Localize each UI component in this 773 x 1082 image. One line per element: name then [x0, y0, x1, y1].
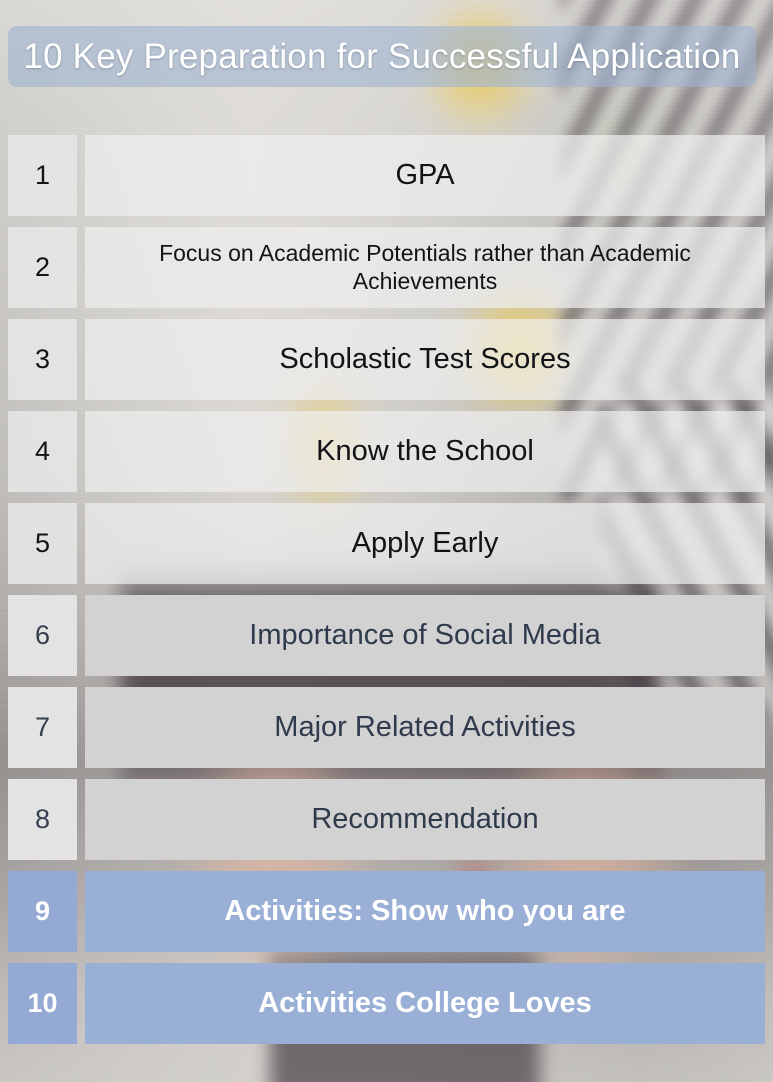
- preparation-list: 1GPA2Focus on Academic Potentials rather…: [0, 135, 773, 1055]
- list-item[interactable]: 2Focus on Academic Potentials rather tha…: [0, 227, 773, 308]
- list-item-number: 5: [8, 503, 77, 584]
- list-item-number: 6: [8, 595, 77, 676]
- list-item-label: Activities: Show who you are: [85, 871, 765, 952]
- list-item-label: Recommendation: [85, 779, 765, 860]
- list-item[interactable]: 8Recommendation: [0, 779, 773, 860]
- list-item[interactable]: 10Activities College Loves: [0, 963, 773, 1044]
- list-item-number: 4: [8, 411, 77, 492]
- page-title: 10 Key Preparation for Successful Applic…: [23, 37, 740, 77]
- list-item-number: 7: [8, 687, 77, 768]
- list-item-label: Major Related Activities: [85, 687, 765, 768]
- list-item[interactable]: 7Major Related Activities: [0, 687, 773, 768]
- list-item-label: Focus on Academic Potentials rather than…: [85, 227, 765, 308]
- list-item-number: 9: [8, 871, 77, 952]
- list-item[interactable]: 9Activities: Show who you are: [0, 871, 773, 952]
- list-item-label: GPA: [85, 135, 765, 216]
- list-item-label: Importance of Social Media: [85, 595, 765, 676]
- list-item-number: 8: [8, 779, 77, 860]
- list-item[interactable]: 5Apply Early: [0, 503, 773, 584]
- list-item[interactable]: 4Know the School: [0, 411, 773, 492]
- slide-title-bar: 10 Key Preparation for Successful Applic…: [8, 26, 756, 87]
- list-item-number: 10: [8, 963, 77, 1044]
- list-item-label: Activities College Loves: [85, 963, 765, 1044]
- list-item-number: 1: [8, 135, 77, 216]
- list-item-number: 2: [8, 227, 77, 308]
- list-item[interactable]: 6Importance of Social Media: [0, 595, 773, 676]
- slide-canvas: 10 Key Preparation for Successful Applic…: [0, 0, 773, 1082]
- list-item-number: 3: [8, 319, 77, 400]
- list-item[interactable]: 3Scholastic Test Scores: [0, 319, 773, 400]
- list-item-label: Know the School: [85, 411, 765, 492]
- list-item-label: Apply Early: [85, 503, 765, 584]
- list-item[interactable]: 1GPA: [0, 135, 773, 216]
- list-item-label: Scholastic Test Scores: [85, 319, 765, 400]
